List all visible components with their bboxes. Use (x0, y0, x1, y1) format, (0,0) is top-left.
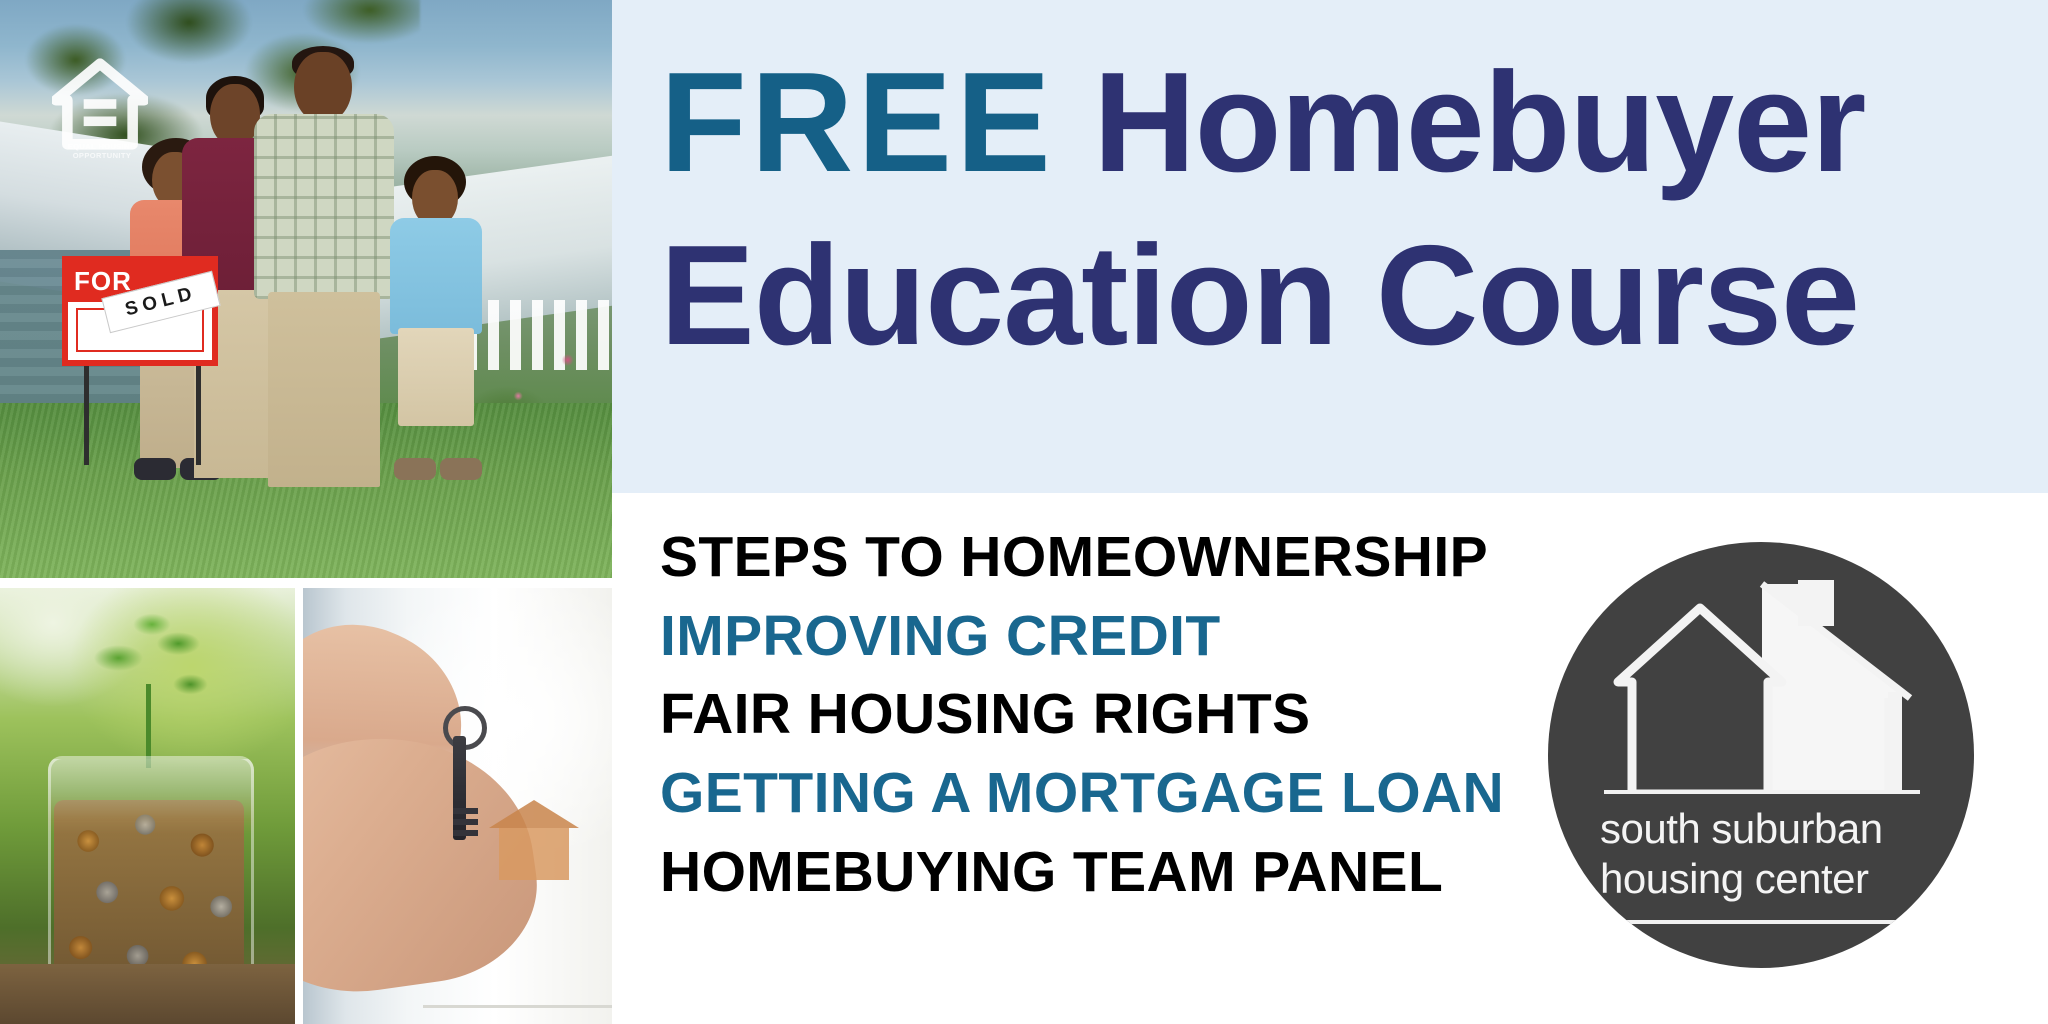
course-topic-getting-a-mortgage-loan: GETTING A MORTGAGE LOAN (660, 754, 1400, 833)
photo-collage: FOR SALE SOLD EQUAL HOUSING OPPORTUNITY (0, 0, 612, 1024)
logo-divider-top (1604, 790, 1920, 794)
south-suburban-housing-center-logo: south suburban housing center (1548, 542, 1974, 968)
logo-wordmark: south suburban housing center (1600, 804, 1926, 903)
equal-housing-opportunity-icon (52, 56, 148, 152)
seedling-leaves (92, 610, 212, 730)
shoe-right (440, 458, 482, 480)
key-teeth (453, 808, 478, 840)
title-spacer (1055, 43, 1093, 202)
course-topic-fair-housing-rights: FAIR HOUSING RIGHTS (660, 675, 1400, 754)
photo-family-in-front-of-home: FOR SALE SOLD EQUAL HOUSING OPPORTUNITY (0, 0, 612, 578)
house-logo-icon (1602, 574, 1920, 794)
flyer-canvas: FOR SALE SOLD EQUAL HOUSING OPPORTUNITY (0, 0, 2048, 1024)
equal-housing-caption: EQUAL HOUSING OPPORTUNITY (40, 142, 164, 161)
plaid-shirt (254, 114, 394, 299)
for-sale-sign: FOR SALE SOLD (62, 256, 218, 366)
photo-handing-over-keys (303, 588, 612, 1024)
logo-line-1: south suburban (1600, 804, 1926, 854)
logo-line-2: housing center (1600, 854, 1926, 904)
title-free-word: FREE (660, 43, 1055, 202)
head (294, 52, 352, 122)
shorts (398, 328, 474, 426)
pants (268, 292, 380, 487)
course-topic-steps-to-homeownership: STEPS TO HOMEOWNERSHIP (660, 518, 1400, 597)
course-topic-improving-credit: IMPROVING CREDIT (660, 597, 1400, 676)
eho-caption-line1: EQUAL HOUSING (40, 142, 164, 151)
person-son (390, 170, 486, 470)
shoe-left (394, 458, 436, 480)
title-second-line: Education Course (660, 209, 2020, 382)
title-homebuyer-word: Homebuyer (1093, 43, 1865, 202)
shirt (390, 218, 482, 334)
person-father (248, 52, 398, 482)
desk-edge (423, 1005, 612, 1008)
course-topic-homebuying-team-panel: HOMEBUYING TEAM PANEL (660, 833, 1400, 912)
page-title: FREE Homebuyer Education Course (660, 36, 2020, 382)
shoe-left (134, 458, 176, 480)
logo-divider-bottom (1604, 920, 1920, 924)
course-topics-list: STEPS TO HOMEOWNERSHIP IMPROVING CREDIT … (660, 518, 1400, 911)
photo-coin-jar-savings (0, 588, 295, 1024)
house-keychain (499, 826, 569, 880)
eho-caption-line2: OPPORTUNITY (40, 151, 164, 160)
table-surface (0, 964, 295, 1024)
